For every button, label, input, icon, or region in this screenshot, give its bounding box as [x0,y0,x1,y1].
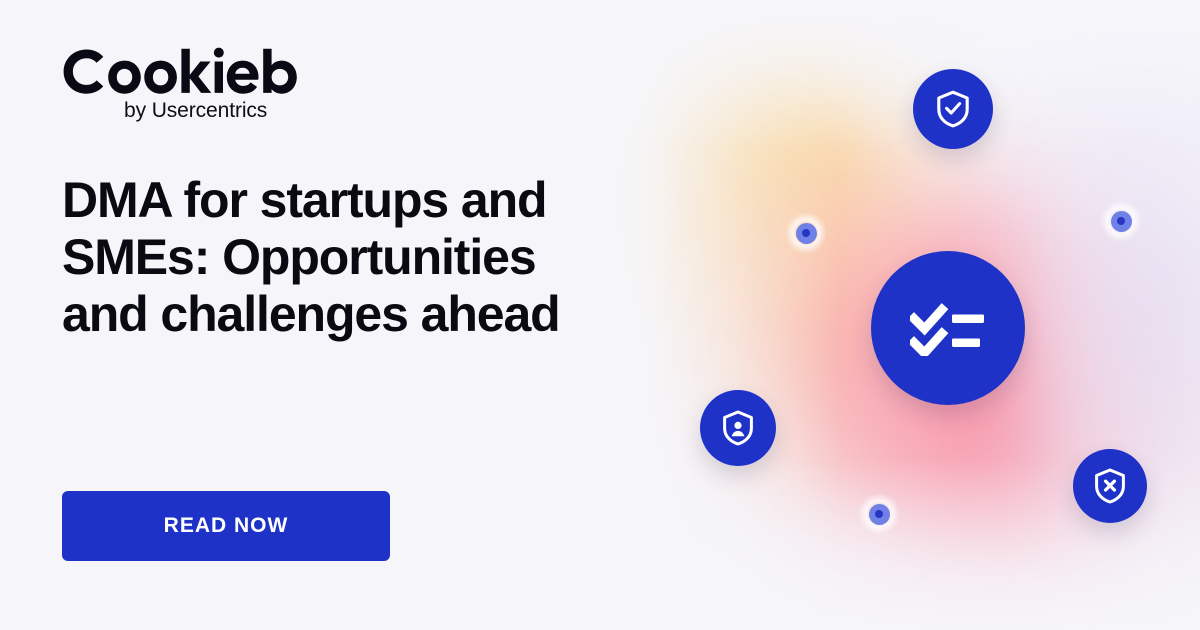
promo-banner: by Usercentrics DMA for startups and SME… [0,0,1200,630]
checklist-icon [910,300,986,356]
cookiebot-wordmark [62,47,302,97]
dot-marker-upper-right [1100,200,1142,242]
dot-core [1117,217,1125,225]
artwork-fade-top [580,0,1200,150]
shield-check-badge [913,69,993,149]
shield-user-icon [722,410,754,446]
dot-core [875,510,883,518]
page-title: DMA for startups and SMEs: Opportunities… [62,172,592,343]
read-now-button[interactable]: READ NOW [62,491,390,561]
dot-core [802,229,810,237]
checklist-badge [871,251,1025,405]
brand-tagline: by Usercentrics [124,100,302,121]
dot-ring [869,504,890,525]
dot-ring [1111,211,1132,232]
dot-marker-lower-center [858,493,900,535]
shield-user-badge [700,390,776,466]
shield-x-icon [1094,468,1126,504]
dot-ring [796,223,817,244]
shield-check-icon [936,90,970,128]
content-column: by Usercentrics DMA for startups and SME… [62,0,662,630]
dot-marker-upper-left [785,212,827,254]
shield-x-badge [1073,449,1147,523]
brand-logo: by Usercentrics [62,47,302,121]
